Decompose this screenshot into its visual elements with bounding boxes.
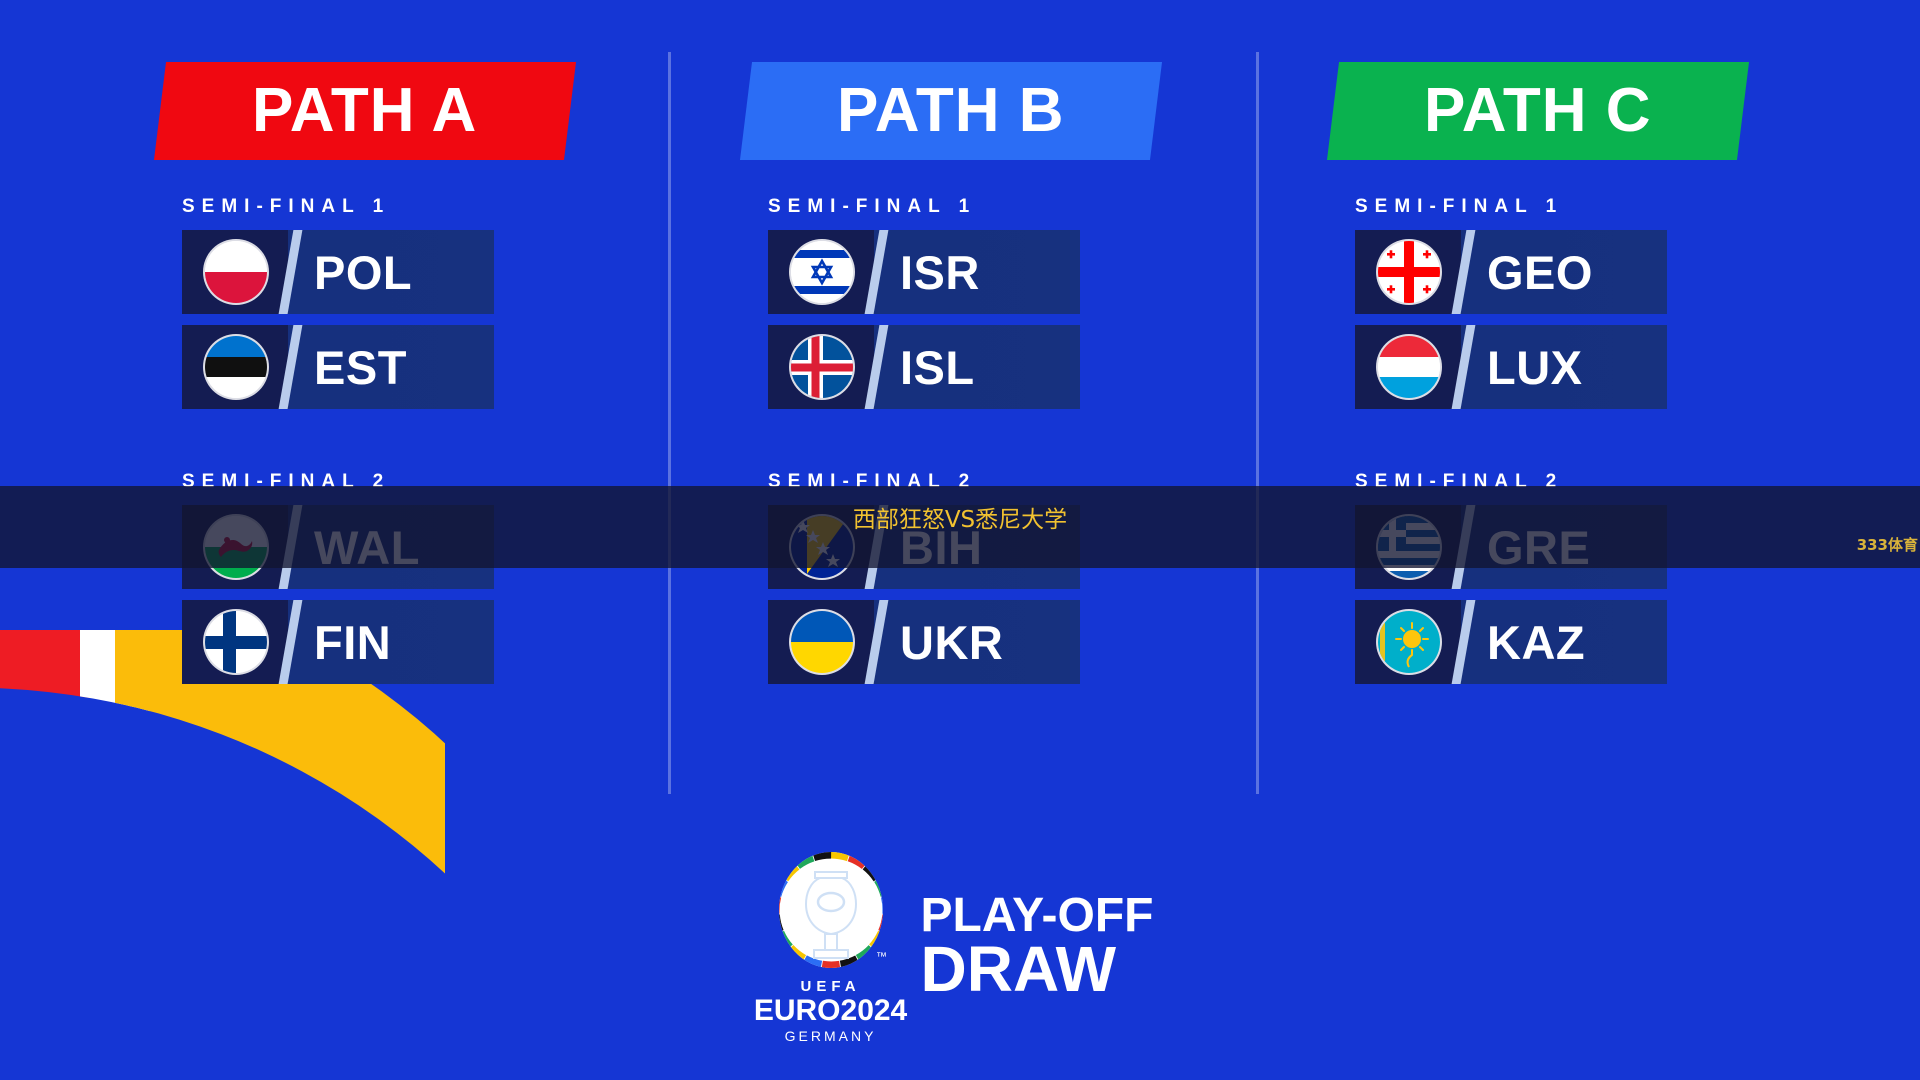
team-row[interactable]: ISR [768,230,1080,314]
flag-finland-icon [205,611,267,673]
path-a-banner: PATH A [154,62,576,160]
flag-poland-icon [205,241,267,303]
team-code: ISR [900,249,980,296]
path-c-banner: PATH C [1327,62,1749,160]
team-row[interactable]: POL [182,230,494,314]
team-code: UKR [900,619,1003,666]
team-code: KAZ [1487,619,1585,666]
flag-georgia-icon [1378,241,1440,303]
logo-germany-text: GERMANY [785,1028,877,1044]
column-divider-1 [668,52,671,794]
overlay-match-title: 西部狂怒VS悉尼大学 [853,500,1067,534]
column-divider-2 [1256,52,1259,794]
logo-euro-text: EURO2024 [754,995,907,1027]
flag-luxembourg-icon [1378,336,1440,398]
team-row[interactable]: UKR [768,600,1080,684]
flag-slot [1355,600,1463,684]
logo-uefa-text: UEFA [801,978,861,995]
flag-israel-icon [791,241,853,303]
team-row[interactable]: EST [182,325,494,409]
path-column-a: PATH A SEMI-FINAL 1 POL EST SEMI-FINAL 2 [160,62,590,695]
path-b-banner: PATH B [740,62,1162,160]
team-code: LUX [1487,344,1583,391]
team-row[interactable]: LUX [1355,325,1667,409]
team-code: POL [314,249,412,296]
euro-trophy-icon: ™ [768,850,894,976]
team-code: ISL [900,344,975,391]
path-c-label: PATH C [1424,80,1652,142]
footer-branding: ™ UEFA EURO2024 GERMANY PLAY-OFF DRAW [0,850,1920,1045]
path-c-semifinal-1-label: SEMI-FINAL 1 [1355,196,1763,218]
flag-slot [768,600,876,684]
team-code: EST [314,344,407,391]
flag-estonia-icon [205,336,267,398]
headline-line-2: DRAW [921,939,1154,1000]
team-row[interactable]: ISL [768,325,1080,409]
flag-slot [768,325,876,409]
flag-kazakhstan-icon [1378,611,1440,673]
team-code: GEO [1487,249,1593,296]
team-row[interactable]: GEO [1355,230,1667,314]
flag-iceland-icon [791,336,853,398]
path-column-c: PATH C SEMI-FINAL 1 GEO LUX SEMI-FINAL 2 [1333,62,1763,695]
flag-slot [768,230,876,314]
playoff-draw-headline: PLAY-OFF DRAW [921,893,1154,1001]
flag-ukraine-icon [791,611,853,673]
trademark-symbol: ™ [876,951,887,963]
path-column-b: PATH B SEMI-FINAL 1 ISR ISL SEMI-FINAL 2 [746,62,1176,695]
euro-2024-logo: ™ UEFA EURO2024 GERMANY [767,850,895,1045]
flag-slot [1355,230,1463,314]
euro-2024-playoff-draw-graphic: PATH A SEMI-FINAL 1 POL EST SEMI-FINAL 2 [0,0,1920,1080]
flag-slot [182,600,290,684]
overlay-banner-strip: 西部狂怒VS悉尼大学 333体育 [0,486,1920,568]
team-row[interactable]: FIN [182,600,494,684]
flag-slot [1355,325,1463,409]
team-code: FIN [314,619,391,666]
path-a-semifinal-1-label: SEMI-FINAL 1 [182,196,590,218]
path-a-label: PATH A [252,80,477,142]
flag-slot [182,325,290,409]
flag-slot [182,230,290,314]
path-b-label: PATH B [837,80,1065,142]
overlay-watermark: 333体育 [1857,534,1918,555]
team-row[interactable]: KAZ [1355,600,1667,684]
path-b-semifinal-1-label: SEMI-FINAL 1 [768,196,1176,218]
